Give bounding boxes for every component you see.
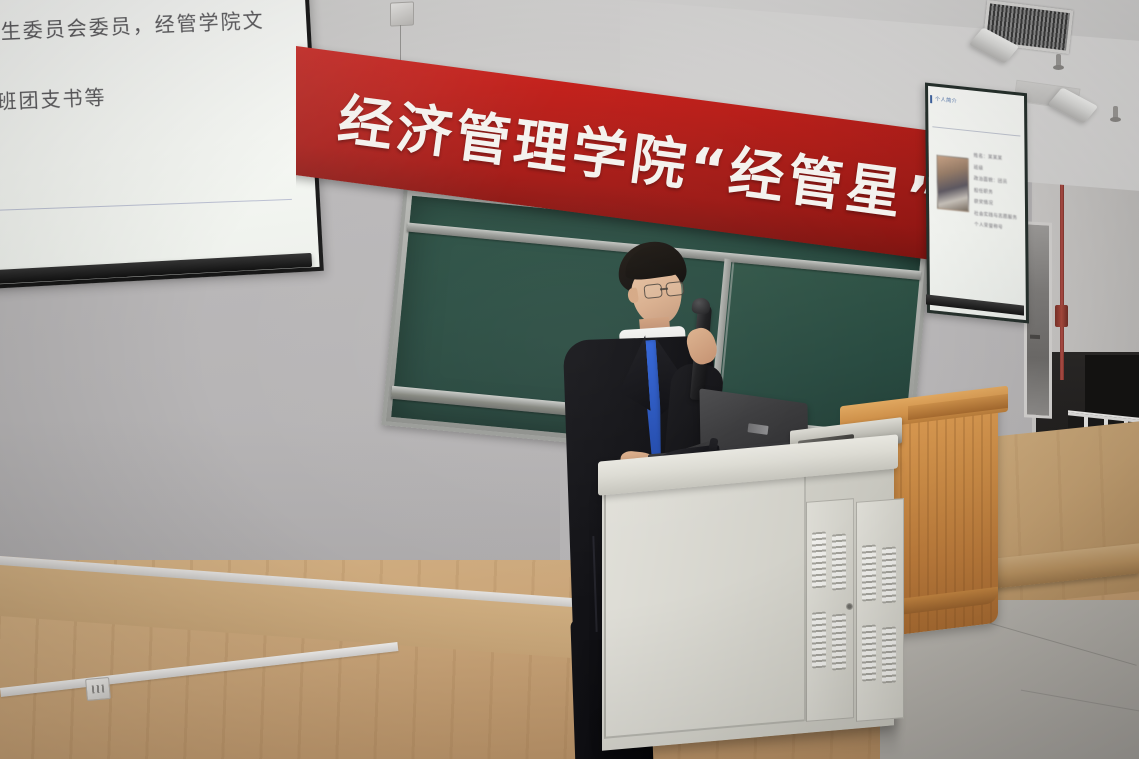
pipe-valve-icon (1055, 305, 1068, 327)
podium-vent-slots (882, 546, 896, 603)
dark-wall-panel (1085, 355, 1139, 417)
podium-vent-slots (812, 611, 826, 668)
podium-door[interactable] (856, 498, 904, 722)
right-slide-header: 个人简介 (935, 96, 957, 105)
podium-vent-slots (832, 613, 846, 670)
event-banner: 经济管理学院“经管星”评选答辩 (296, 46, 932, 261)
podium-vent-slots (832, 533, 846, 590)
right-slide-line: 获奖情况 (974, 201, 1022, 211)
right-projection-screen: 个人简介 姓名：某某某 班级 政治面貌：团员 担任职务 获奖情况 社会实践与志愿… (925, 83, 1029, 324)
lecture-hall-photo: 学生委员会委员，经管学院文艺 4班团支书等 经济管理学院“经管星”评选答辩 个人… (0, 0, 1139, 759)
podium-lock-icon[interactable] (846, 603, 853, 610)
podium-vent-slots (882, 626, 896, 683)
left-slide-divider (0, 199, 292, 211)
presenter-ear (627, 287, 639, 303)
microphone-head-icon (691, 297, 710, 315)
sprinkler-head-icon (1113, 106, 1118, 119)
right-slide-line: 个人荣誉称号 (974, 224, 1022, 234)
right-slide-line: 担任职务 (974, 189, 1022, 199)
left-slide-text: 学生委员会委员，经管学院文艺 4班团支书等 (0, 3, 268, 120)
right-slide-line: 班级 (974, 166, 1022, 176)
podium-vent-slots (862, 624, 876, 681)
left-projection-screen: 学生委员会委员，经管学院文艺 4班团支书等 (0, 0, 324, 289)
power-outlet-icon (85, 677, 111, 701)
podium-front-panel (604, 469, 806, 739)
right-slide-line: 政治面貌：团员 (974, 178, 1022, 188)
asus-logo-icon (747, 423, 768, 435)
red-standpipe-icon (1060, 180, 1064, 380)
right-slide-line: 社会实践与志愿服务 (974, 212, 1022, 222)
right-slide-divider (932, 126, 1020, 136)
right-slide-portrait-photo (937, 155, 969, 212)
sprinkler-head-icon (1056, 54, 1061, 67)
right-slide-lines: 姓名：某某某 班级 政治面貌：团员 担任职务 获奖情况 社会实践与志愿服务 个人… (974, 155, 1023, 241)
podium-vent-slots (862, 544, 876, 601)
podium-vent-slots (812, 531, 826, 588)
right-slide-line: 姓名：某某某 (974, 155, 1022, 165)
